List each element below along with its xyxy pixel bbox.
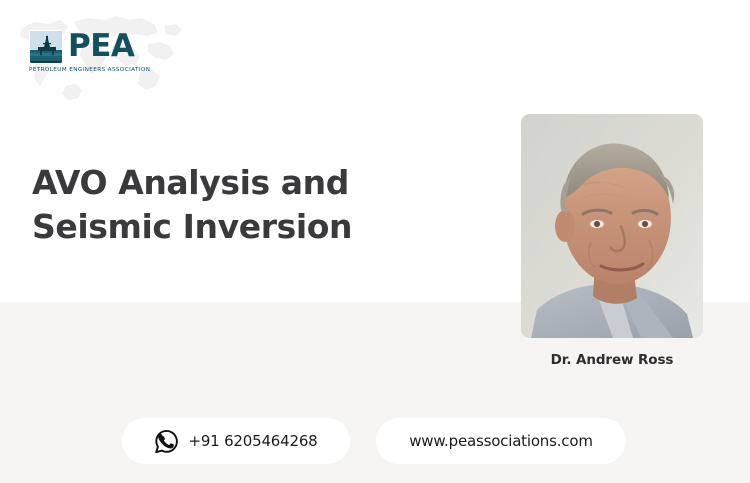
logo-wordmark: PEA [68, 31, 134, 62]
website-contact-pill[interactable]: www.peassociations.com [376, 418, 626, 464]
promo-banner: PEA PETROLEUM ENGINEERS ASSOCIATION AVO … [0, 0, 750, 483]
logo-tagline: PETROLEUM ENGINEERS ASSOCIATION [29, 67, 177, 73]
page-title: AVO Analysis and Seismic Inversion [32, 161, 452, 248]
speaker-photo [521, 114, 703, 338]
page-title-line-2: Seismic Inversion [32, 205, 452, 249]
logo-row: PEA [29, 30, 174, 64]
whatsapp-contact-pill[interactable]: +91 6205464268 [122, 418, 350, 464]
pea-logo: PEA PETROLEUM ENGINEERS ASSOCIATION [29, 30, 174, 80]
phone-number-label: +91 6205464268 [188, 432, 317, 450]
offshore-oil-rig-icon [29, 30, 63, 64]
page-title-line-1: AVO Analysis and [32, 161, 452, 205]
whatsapp-icon [154, 429, 179, 454]
speaker-name: Dr. Andrew Ross [521, 352, 703, 368]
website-label: www.peassociations.com [409, 432, 593, 450]
